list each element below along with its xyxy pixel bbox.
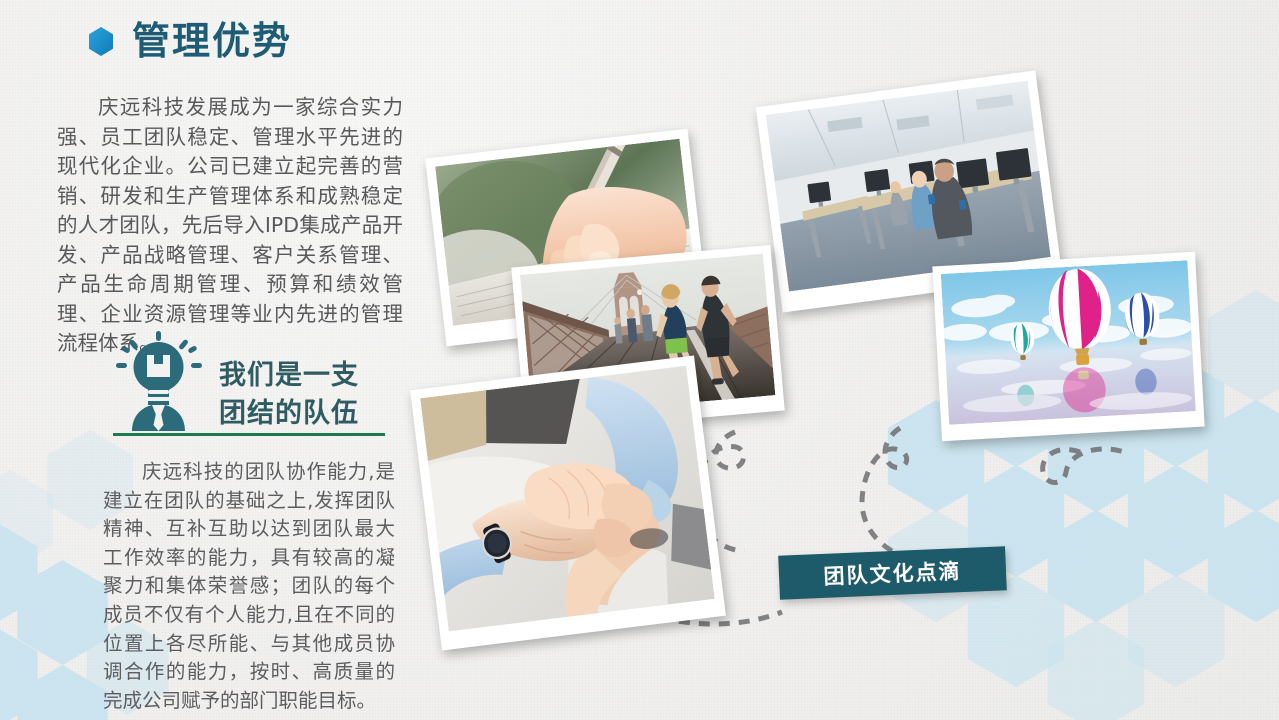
teamwork-paragraph: 庆远科技的团队协作能力,是建立在团队的基础之上,发挥团队精神、互补互助以达到团队… [103,458,395,715]
sub-heading-line-2: 团结的队伍 [219,395,359,433]
slide-canvas: 管理优势 庆远科技发展成为一家综合实力强、员工团队稳定、管理水平先进的现代化企业… [0,0,1279,720]
status-banner-text: 团队文化点滴 [823,555,962,591]
photo-hot-air-balloons[interactable] [932,252,1204,441]
sub-heading-line-1: 我们是一支 [219,357,359,395]
sub-heading: 我们是一支 团结的队伍 [219,357,359,433]
status-banner: 团队文化点滴 [778,546,1007,599]
hexagon-icon [88,27,114,56]
green-divider [113,433,385,436]
page-title: 管理优势 [88,22,292,60]
intro-paragraph: 庆远科技发展成为一家综合实力强、员工团队稳定、管理水平先进的现代化企业。公司已建… [57,93,403,359]
page-title-text: 管理优势 [132,22,292,60]
photo-team-hands[interactable] [410,356,726,651]
lightbulb-head-person-icon [112,331,206,431]
